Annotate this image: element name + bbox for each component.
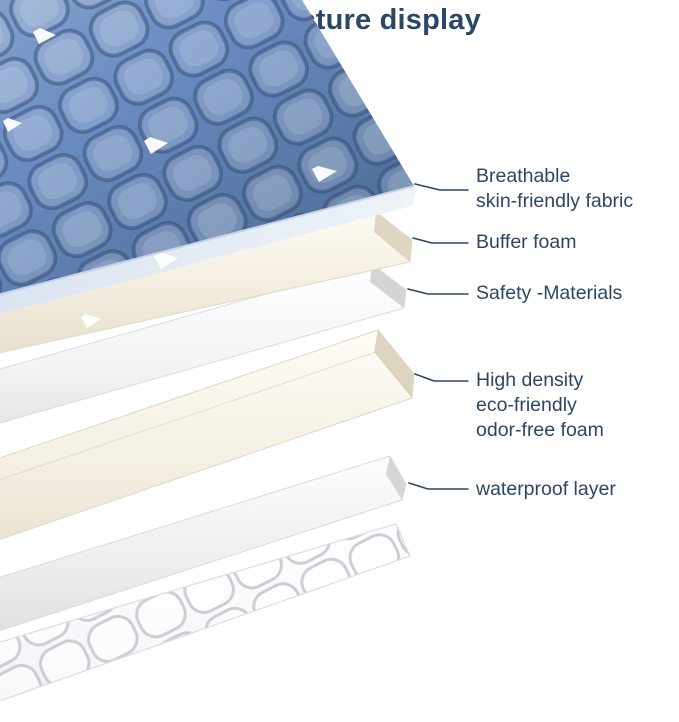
- label-buffer-foam: Buffer foam: [476, 230, 576, 255]
- label-waterproof-layer: waterproof layer: [476, 477, 616, 502]
- label-safety-materials: Safety -Materials: [476, 281, 622, 306]
- leader-waterproof-layer: [409, 483, 468, 489]
- label-high-density-foam: High density eco-friendly odor-free foam: [476, 368, 604, 443]
- mattress-layer-stack: [0, 0, 679, 722]
- leader-breathable-fabric: [415, 184, 468, 190]
- leader-buffer-foam: [413, 238, 468, 243]
- leader-safety-materials: [408, 289, 468, 294]
- diagram-canvas: 3D structure display: [0, 0, 679, 722]
- leader-high-density-foam: [415, 374, 468, 381]
- label-breathable-fabric: Breathable skin-friendly fabric: [476, 164, 633, 214]
- leader-lines: [408, 184, 468, 489]
